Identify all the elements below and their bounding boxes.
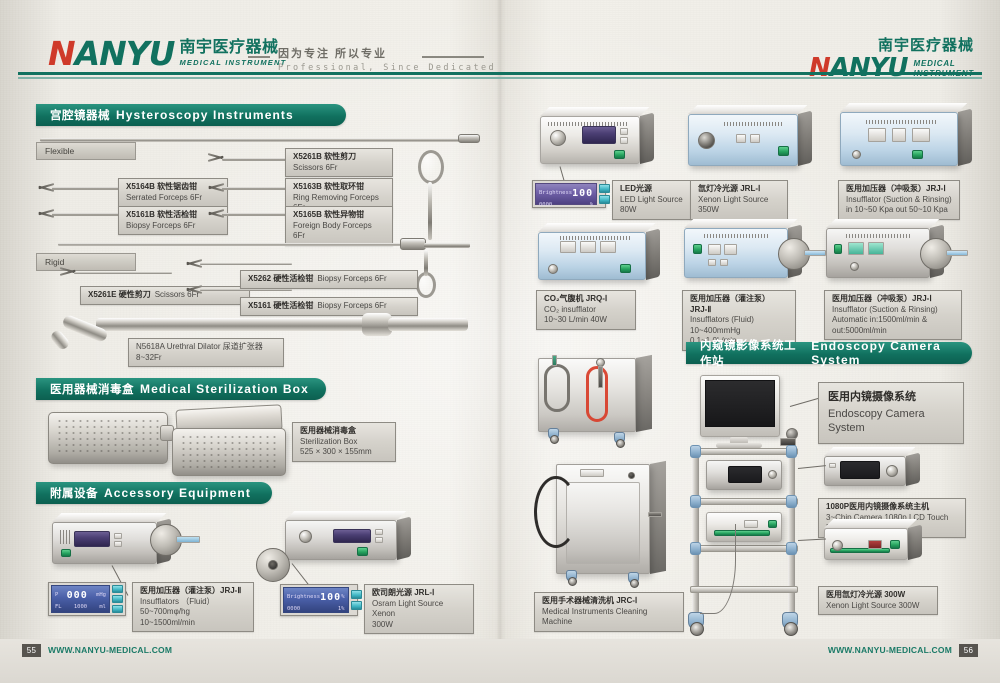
device-insufflator-suction-2-display-1 bbox=[848, 242, 864, 255]
device-insufflator-suction-2-tube bbox=[946, 250, 968, 256]
display-led-key-down[interactable] bbox=[599, 195, 610, 204]
display-osram-keys[interactable] bbox=[351, 587, 362, 613]
device-xenon-btn-1 bbox=[736, 134, 746, 143]
display-led-lcd: Brightness 100 0000 % bbox=[535, 183, 597, 205]
display-led-label1: Brightness bbox=[539, 189, 572, 197]
spray-gun-body bbox=[598, 366, 603, 388]
section-title-en-accessory: Accessory Equipment bbox=[104, 486, 251, 500]
label-scissors-flexible-en: Scissors 6Fr bbox=[293, 163, 385, 174]
display-insufflator-fluid-unit1: mHg bbox=[96, 591, 106, 599]
group-label-flexible: Flexible bbox=[36, 142, 136, 160]
label-rigid-biopsy-x5262-en: Biopsy Forceps 6Fr bbox=[317, 274, 386, 285]
rigid-hysteroscope-lower-stem bbox=[424, 250, 428, 276]
label-biopsy-forceps-flexible-en: Biopsy Forceps 6Fr bbox=[126, 221, 220, 232]
urethral-dilator-shaft bbox=[96, 318, 376, 331]
tagline: 因为专注 所以专业 Professional, Since Dedicated bbox=[278, 45, 496, 73]
device-camera-host-detached-top bbox=[824, 447, 915, 456]
display-insufflator-fluid-keys[interactable] bbox=[112, 585, 123, 613]
display-insufflator-fluid-unit2: ml bbox=[99, 603, 106, 611]
label-serrated-forceps-en: Serrated Forceps 6Fr bbox=[126, 193, 220, 204]
device-insufflator-fluid-btn-2 bbox=[114, 541, 122, 547]
machine-cleaning-lower-side bbox=[650, 461, 666, 574]
label-serrated-forceps-cn: X5164B 软性锯齿钳 bbox=[126, 182, 220, 193]
cart-joint-3-right bbox=[786, 542, 797, 555]
display-osram-unit2: 1% bbox=[338, 605, 345, 613]
label-sterilization-box: 医用器械消毒盒 Sterilization Box 525 × 300 × 15… bbox=[292, 422, 396, 462]
brand-chinese-block: 南宇医疗器械 MEDICAL INSTRUMENT bbox=[179, 40, 286, 69]
section-title-cn-camera: 内窥镜影像系统工作站 bbox=[700, 337, 805, 369]
brand-letters-rest: ANYU bbox=[75, 34, 175, 73]
display-led-light-source: Brightness 100 0000 % bbox=[532, 180, 606, 208]
display-insufflator-fluid-key-enter[interactable] bbox=[112, 605, 123, 613]
machine-cleaning-upper-side bbox=[636, 355, 652, 432]
hose-coil-red bbox=[586, 366, 608, 422]
cart-light-cable bbox=[700, 524, 736, 614]
label-foreign-body-forceps-cn: X5165B 软性异物钳 bbox=[293, 210, 385, 221]
machine-cleaning-lower-door[interactable] bbox=[566, 482, 640, 564]
device-insufflator-suction-1-display-2 bbox=[892, 128, 906, 142]
device-led-btn-2 bbox=[620, 137, 628, 144]
label-xenon-spec: 350W bbox=[698, 205, 780, 216]
cart-monitor bbox=[700, 375, 780, 437]
display-insufflator-fluid-label1: P bbox=[55, 591, 58, 599]
display-insufflator-fluid-row1: P 000 mHg bbox=[55, 588, 106, 603]
device-insufflator-suction-1-port bbox=[852, 150, 861, 159]
device-insufflator-suction-2-display-2 bbox=[868, 242, 884, 255]
machine-cleaning-upper-wheel-left bbox=[550, 435, 559, 444]
foreign-body-forceps-shaft bbox=[222, 213, 288, 216]
machine-cleaning-lower-caster-left bbox=[566, 570, 577, 582]
label-ring-removing-forceps-cn: X5163B 软性取环钳 bbox=[293, 182, 385, 193]
label-xenon-300w-cn: 医用氙灯冷光源 300W bbox=[826, 590, 930, 601]
catalog-page-spread: NANYU 南宇医疗器械 MEDICAL INSTRUMENT 因为专注 所以专… bbox=[0, 0, 1000, 683]
device-insufflator-suction-1 bbox=[840, 112, 958, 166]
section-banner-accessory: 附属设备 Accessory Equipment bbox=[36, 482, 272, 504]
page-number-right: 56 bbox=[959, 644, 978, 657]
brand-letter-n: N bbox=[48, 34, 75, 73]
cart-camera-host-screen bbox=[728, 466, 762, 483]
cart-shelf-2 bbox=[690, 498, 798, 505]
sterilization-box-open-tray bbox=[172, 428, 286, 476]
label-rigid-biopsy-x5161-cn: X5161 硬性活检钳 bbox=[248, 301, 313, 312]
label-urethral-dilator-text: N5618A Urethral Dilator 尿道扩张器 8~32Fr bbox=[136, 342, 276, 363]
device-insufflator-suction-2-port bbox=[850, 262, 859, 271]
label-led-spec: 80W bbox=[620, 205, 686, 216]
sterilization-box-open-perforations bbox=[180, 434, 278, 468]
display-insufflator-fluid-key-down[interactable] bbox=[112, 595, 123, 603]
label-co2-en: CO₂ insufflator bbox=[544, 305, 628, 316]
device-xenon-300w-power-led bbox=[890, 540, 900, 549]
section-title-cn-hysteroscopy: 宫腔镜器械 bbox=[50, 107, 110, 123]
device-camera-host-detached-side bbox=[906, 453, 920, 486]
label-insufflator-suction-2-cn: 医用加压器（冲吸泵）JRJ-Ⅰ bbox=[832, 294, 954, 305]
device-co2-side bbox=[646, 229, 660, 280]
page-number-left: 55 bbox=[22, 644, 41, 657]
device-camera-host-detached-screen bbox=[840, 461, 880, 479]
display-insufflator-fluid-value2: 1000 bbox=[74, 603, 87, 611]
machine-cleaning-lower-handle bbox=[648, 512, 662, 517]
cart-light-source-display bbox=[744, 520, 758, 528]
device-insufflator-suction-2-power-led bbox=[834, 244, 842, 254]
device-insufflator-fluid-2-tube bbox=[804, 250, 826, 256]
display-osram-row2: 0000 1% bbox=[287, 605, 345, 613]
machine-cleaning-upper-wheel-right bbox=[616, 439, 625, 448]
device-insufflator-fluid-2-btn-1 bbox=[708, 259, 716, 266]
display-led-label2: 0000 bbox=[539, 201, 552, 209]
device-xenon-300w-side bbox=[908, 525, 922, 560]
label-insufflator-suction-1-en: Insufflator (Suction & Rinsing) bbox=[846, 195, 952, 206]
brand-right-en-line1: MEDICAL bbox=[914, 59, 974, 69]
device-xenon-300w-top bbox=[824, 519, 917, 528]
device-co2-display-1 bbox=[560, 241, 576, 253]
display-insufflator-fluid: P 000 mHg FL 1000 ml bbox=[48, 582, 126, 616]
device-insufflator-suction-2 bbox=[826, 228, 930, 278]
label-insufflator-fluid-en: Insufflators （Fluid） bbox=[140, 597, 246, 608]
display-led-unit2: % bbox=[590, 201, 593, 209]
cart-joint-1-right bbox=[786, 445, 797, 458]
cart-joint-2-right bbox=[786, 495, 797, 508]
display-insufflator-fluid-label2: FL bbox=[55, 603, 62, 611]
flexible-hysteroscope-hub bbox=[458, 134, 480, 143]
device-xenon-top bbox=[688, 105, 807, 114]
label-rigid-biopsy-x5161: X5161 硬性活检钳 Biopsy Forceps 6Fr bbox=[240, 297, 418, 316]
cart-shelf-1 bbox=[690, 448, 798, 455]
label-insufflator-suction-1-spec: in 10~50 Kpa out 50~10 Kpa bbox=[846, 205, 952, 216]
device-insufflator-fluid-2-vent bbox=[704, 234, 770, 238]
sterilization-box-closed-perforations bbox=[56, 418, 160, 456]
page-gutter bbox=[496, 0, 506, 683]
label-scissors-flexible: X5261B 软性剪刀 Scissors 6Fr bbox=[285, 148, 393, 177]
display-led-row1: Brightness 100 bbox=[539, 186, 593, 201]
footer-right: WWW.NANYU-MEDICAL.COM 56 bbox=[500, 639, 1000, 683]
brand-name-en: MEDICAL INSTRUMENT bbox=[179, 58, 286, 67]
machine-cleaning-lower-caster-right bbox=[628, 572, 639, 584]
display-osram-lcd: Brightness 100 % 0000 1% bbox=[283, 587, 349, 613]
device-insufflator-fluid-2-power-led bbox=[693, 244, 702, 254]
label-sterilization-box-cn: 医用器械消毒盒 bbox=[300, 426, 388, 437]
label-camera-system-cn: 医用内镜摄像系统 bbox=[828, 390, 954, 405]
display-osram: Brightness 100 % 0000 1% bbox=[280, 584, 358, 616]
section-title-en-sterilization: Medical Sterilization Box bbox=[140, 382, 309, 396]
label-co2-spec: 10~30 L/min 40W bbox=[544, 315, 628, 326]
brand-wordmark: NANYU bbox=[48, 38, 174, 69]
label-camera-host-cn: 1080P医用内镜摄像系统主机 bbox=[826, 502, 958, 513]
page-header: NANYU 南宇医疗器械 MEDICAL INSTRUMENT 因为专注 所以专… bbox=[0, 0, 1000, 84]
rigid-hysteroscope-hub bbox=[400, 238, 426, 250]
device-xenon-300w-detached bbox=[824, 528, 908, 560]
label-osram-light-source: 欧司朗光源 JRL-Ⅰ Osram Light Source Xenon 300… bbox=[364, 584, 474, 634]
device-insufflator-fluid-2-btn-2 bbox=[720, 259, 728, 266]
device-led-vent bbox=[548, 122, 628, 126]
label-osram-spec: 300W bbox=[372, 620, 466, 631]
device-co2-gas-port bbox=[548, 264, 558, 274]
label-osram-en: Osram Light Source Xenon bbox=[372, 599, 466, 620]
urethral-dilator-tail bbox=[388, 318, 468, 331]
label-insufflator-suction-1-cn: 医用加压器（冲吸泵）JRJ-Ⅰ bbox=[846, 184, 952, 195]
label-led-light-source: LED光源 LED Light Source 80W bbox=[612, 180, 694, 220]
rigid-hysteroscope-shaft bbox=[58, 243, 408, 246]
machine-cleaning-lower-indicator bbox=[628, 472, 635, 479]
device-xenon-light-port bbox=[698, 132, 715, 149]
section-title-cn-sterilization: 医用器械消毒盒 bbox=[50, 381, 134, 397]
label-rigid-biopsy-x5262: X5262 硬性活检钳 Biopsy Forceps 6Fr bbox=[240, 270, 418, 289]
label-insufflator-suction-1: 医用加压器（冲吸泵）JRJ-Ⅰ Insufflator (Suction & R… bbox=[838, 180, 960, 220]
machine-cleaning-lower-label-plate bbox=[580, 469, 604, 477]
display-led-value1: 100 bbox=[572, 186, 593, 201]
label-biopsy-forceps-flexible-cn: X5161B 软性活检钳 bbox=[126, 210, 220, 221]
label-insufflator-fluid: 医用加压器（灌注泵）JRJ-Ⅱ Insufflators （Fluid） 50~… bbox=[132, 582, 254, 632]
machine-cleaning-lower-hose bbox=[534, 476, 578, 548]
machine-cleaning-upper-caster-right bbox=[614, 432, 625, 444]
device-co2-power-led bbox=[620, 264, 631, 273]
cart-caster-right bbox=[782, 612, 798, 630]
cart-wheel-right bbox=[784, 622, 798, 636]
device-xenon-light-source bbox=[688, 114, 798, 166]
cart-monitor-screen bbox=[705, 380, 775, 427]
brand-logo-left: NANYU 南宇医疗器械 MEDICAL INSTRUMENT bbox=[48, 38, 286, 69]
display-osram-label2: 0000 bbox=[287, 605, 300, 613]
display-led-row2: 0000 % bbox=[539, 201, 593, 209]
brand-right-letters-rest: ANYU bbox=[830, 53, 908, 83]
device-osram-btn-2 bbox=[375, 537, 383, 543]
display-osram-row1: Brightness 100 % bbox=[287, 590, 345, 605]
device-led-screen bbox=[582, 126, 616, 144]
cart-light-source-power-led bbox=[768, 520, 777, 528]
device-osram-adapter-port bbox=[268, 560, 278, 570]
device-led-side bbox=[640, 113, 654, 164]
device-insufflator-suction-1-power-led bbox=[912, 150, 923, 159]
device-insufflator-suction-1-display-3 bbox=[912, 128, 930, 142]
display-osram-key-up[interactable] bbox=[351, 590, 362, 599]
label-osram-cn: 欧司朗光源 JRL-Ⅰ bbox=[372, 588, 466, 599]
device-insufflator-fluid-power-led bbox=[61, 549, 71, 557]
callout-lead-camera-host bbox=[798, 465, 826, 469]
device-insufflator-fluid-tube bbox=[176, 536, 200, 543]
device-led-light-source bbox=[540, 116, 640, 164]
device-insufflator-suction-1-top bbox=[840, 103, 967, 112]
device-camera-host-detached bbox=[824, 456, 906, 486]
display-insufflator-fluid-lcd: P 000 mHg FL 1000 ml bbox=[51, 585, 110, 613]
device-camera-host-detached-btn bbox=[829, 463, 836, 468]
label-xenon-cn: 氙灯冷光源 JRL-Ⅰ bbox=[698, 184, 780, 195]
device-xenon-side bbox=[798, 111, 812, 166]
display-insufflator-fluid-row2: FL 1000 ml bbox=[55, 603, 106, 611]
label-camera-system: 医用内镜摄像系统 Endoscopy Camera System bbox=[818, 382, 964, 444]
device-insufflator-suction-2-vent bbox=[846, 234, 910, 238]
cart-caster-left bbox=[688, 612, 704, 630]
label-cleaning-machine-en: Medical Instruments Cleaning Machine bbox=[542, 607, 676, 628]
ring-removing-forceps-shaft bbox=[222, 187, 288, 190]
label-insufflator-suction-2-en: Insufflator (Suction & Rinsing) bbox=[832, 305, 954, 316]
section-title-en-camera: Endoscopy Camera System bbox=[811, 339, 972, 367]
tagline-dash-left bbox=[248, 56, 270, 58]
rigid-hysteroscope-body bbox=[424, 243, 470, 248]
header-rule-primary bbox=[18, 72, 982, 75]
tagline-dash-right bbox=[422, 56, 484, 58]
device-insufflator-fluid-2-display-1 bbox=[708, 244, 721, 255]
device-xenon-vent bbox=[724, 122, 784, 126]
sterilization-box-closed bbox=[48, 412, 168, 464]
display-osram-unit1: % bbox=[341, 593, 344, 601]
label-rigid-scissors-cn: X5261E 硬性剪刀 bbox=[88, 290, 151, 301]
device-led-btn-1 bbox=[620, 128, 628, 135]
brand-right-letter-n: N bbox=[809, 53, 830, 83]
label-cleaning-machine-cn: 医用手术器械清洗机 JRC-Ⅰ bbox=[542, 596, 676, 607]
section-title-en-hysteroscopy: Hysteroscopy Instruments bbox=[116, 108, 294, 122]
urethral-dilator-tip bbox=[49, 328, 71, 351]
device-xenon-btn-2 bbox=[750, 134, 760, 143]
device-insufflator-fluid-top bbox=[52, 513, 166, 522]
device-insufflator-suction-2-top bbox=[826, 219, 939, 228]
brand-right-name-cn: 南宇医疗器械 bbox=[809, 34, 974, 55]
website-url-left[interactable]: WWW.NANYU-MEDICAL.COM bbox=[48, 644, 172, 657]
device-co2-display-3 bbox=[600, 241, 616, 253]
label-co2-cn: CO₂气腹机 JRQ-Ⅰ bbox=[544, 294, 628, 305]
label-xenon-en: Xenon Light Source bbox=[698, 195, 780, 206]
device-insufflator-fluid-2 bbox=[684, 228, 788, 278]
label-foreign-body-forceps: X5165B 软性异物钳 Foreign Body Forceps 6Fr bbox=[285, 206, 393, 246]
label-insufflator-suction-2: 医用加压器（冲吸泵）JRJ-Ⅰ Insufflator (Suction & R… bbox=[824, 290, 962, 340]
label-insufflator-fluid-2-cn: 医用加压器（灌注泵） JRJ-Ⅱ bbox=[690, 294, 788, 315]
machine-cleaning-upper-caster-left bbox=[548, 428, 559, 440]
device-xenon-300w-display bbox=[868, 540, 882, 549]
label-xenon-300w-en: Xenon Light Source 300W bbox=[826, 601, 930, 612]
hose-coil-grey bbox=[544, 364, 570, 412]
header-rule-secondary bbox=[18, 77, 982, 79]
section-banner-hysteroscopy: 宫腔镜器械 Hysteroscopy Instruments bbox=[36, 104, 346, 126]
group-label-rigid: Rigid bbox=[36, 253, 136, 271]
cart-joint-1-left bbox=[690, 445, 701, 458]
display-osram-label1: Brightness bbox=[287, 593, 320, 601]
label-scissors-flexible-cn: X5261B 软性剪刀 bbox=[293, 152, 385, 163]
rigid-hysteroscope-ring-stem bbox=[428, 182, 432, 240]
device-co2-top bbox=[538, 223, 655, 232]
device-co2-insufflator bbox=[538, 232, 646, 280]
display-insufflator-fluid-value1: 000 bbox=[67, 588, 88, 603]
display-led-keys[interactable] bbox=[599, 183, 610, 205]
device-osram-power-led bbox=[357, 547, 368, 556]
device-led-power-led bbox=[614, 150, 625, 159]
device-insufflator-fluid-btn-1 bbox=[114, 533, 122, 539]
machine-cleaning-lower-wheel-left bbox=[568, 577, 577, 586]
label-cleaning-machine: 医用手术器械清洗机 JRC-Ⅰ Medical Instruments Clea… bbox=[534, 592, 684, 632]
rigid-scissors-shaft bbox=[74, 272, 172, 274]
rigid-biopsy-5262-shaft bbox=[200, 263, 292, 265]
section-banner-sterilization: 医用器械消毒盒 Medical Sterilization Box bbox=[36, 378, 326, 400]
machine-cleaning-lower-wheel-right bbox=[630, 579, 639, 588]
device-insufflator-suction-1-side bbox=[958, 109, 972, 166]
device-camera-host-detached-port bbox=[886, 465, 898, 477]
tagline-cn: 因为专注 所以专业 bbox=[278, 45, 496, 61]
label-led-en: LED Light Source bbox=[620, 195, 686, 206]
device-osram-btn-1 bbox=[375, 529, 383, 535]
cleaning-tool-green bbox=[552, 355, 557, 366]
label-sterilization-box-spec: 525 × 300 × 155mm bbox=[300, 447, 388, 458]
section-title-cn-accessory: 附属设备 bbox=[50, 485, 98, 501]
display-osram-value1: 100 bbox=[320, 590, 341, 605]
device-co2-display-2 bbox=[580, 241, 596, 253]
device-osram-light-port bbox=[299, 530, 312, 543]
display-insufflator-fluid-key-up[interactable] bbox=[112, 585, 123, 593]
cart-wheel-left bbox=[690, 622, 704, 636]
device-co2-vent bbox=[560, 236, 630, 240]
device-insufflator-fluid-2-display-2 bbox=[724, 244, 737, 255]
label-insufflator-suction-2-spec: Automatic in:1500ml/min & out:5000ml/min bbox=[832, 315, 954, 336]
label-sterilization-box-en: Sterilization Box bbox=[300, 437, 388, 448]
label-led-cn: LED光源 bbox=[620, 184, 686, 195]
section-banner-camera: 内窥镜影像系统工作站 Endoscopy Camera System bbox=[686, 342, 972, 364]
device-insufflator-suction-1-display-1 bbox=[868, 128, 886, 142]
label-urethral-dilator: N5618A Urethral Dilator 尿道扩张器 8~32Fr bbox=[128, 338, 284, 367]
label-camera-system-en: Endoscopy Camera System bbox=[828, 407, 954, 436]
device-insufflator-fluid-vent bbox=[60, 530, 70, 544]
rigid-biopsy-5161-shaft bbox=[200, 289, 292, 291]
display-osram-key-down[interactable] bbox=[351, 601, 362, 610]
label-foreign-body-forceps-en: Foreign Body Forceps 6Fr bbox=[293, 221, 385, 242]
display-led-key-up[interactable] bbox=[599, 184, 610, 193]
footer-left: 55 WWW.NANYU-MEDICAL.COM bbox=[0, 639, 500, 683]
label-rigid-biopsy-x5262-cn: X5262 硬性活检钳 bbox=[248, 274, 313, 285]
device-xenon-300w-light-port bbox=[832, 540, 843, 551]
cart-camera-host bbox=[706, 460, 782, 490]
rigid-hysteroscope-ring-upper bbox=[418, 150, 444, 184]
cart-joint-2-left bbox=[690, 495, 701, 508]
label-xenon-light-source: 氙灯冷光源 JRL-Ⅰ Xenon Light Source 350W bbox=[690, 180, 788, 220]
label-rigid-biopsy-x5161-en: Biopsy Forceps 6Fr bbox=[317, 301, 386, 312]
device-osram-light-source bbox=[285, 520, 397, 560]
device-led-top bbox=[540, 107, 649, 116]
device-xenon-power-led bbox=[778, 146, 789, 156]
device-led-knob bbox=[550, 130, 566, 146]
device-osram-side bbox=[397, 517, 411, 560]
website-url-right[interactable]: WWW.NANYU-MEDICAL.COM bbox=[828, 644, 952, 657]
label-co2-insufflator: CO₂气腹机 JRQ-Ⅰ CO₂ insufflator 10~30 L/min… bbox=[536, 290, 636, 330]
label-insufflator-fluid-cn: 医用加压器（灌注泵）JRJ-Ⅱ bbox=[140, 586, 246, 597]
cart-camera-host-port bbox=[768, 470, 777, 479]
device-osram-top bbox=[285, 511, 406, 520]
label-insufflator-fluid-2-en: Insufflators (Fluid) bbox=[690, 315, 788, 326]
device-insufflator-suction-1-vent bbox=[866, 120, 936, 124]
device-insufflator-fluid bbox=[52, 522, 157, 564]
device-osram-screen bbox=[333, 529, 371, 543]
device-insufflator-fluid-screen bbox=[74, 531, 110, 547]
label-xenon-300w: 医用氙灯冷光源 300W Xenon Light Source 300W bbox=[818, 586, 938, 615]
callout-lead-xenon-300w bbox=[798, 539, 826, 541]
device-insufflator-fluid-2-top bbox=[684, 219, 797, 228]
brand-name-cn: 南宇医疗器械 bbox=[179, 40, 286, 56]
scissors-flex-shaft bbox=[222, 158, 288, 161]
label-insufflator-fluid-spec: 50~700mφ/hg 10~1500ml/min bbox=[140, 607, 246, 628]
